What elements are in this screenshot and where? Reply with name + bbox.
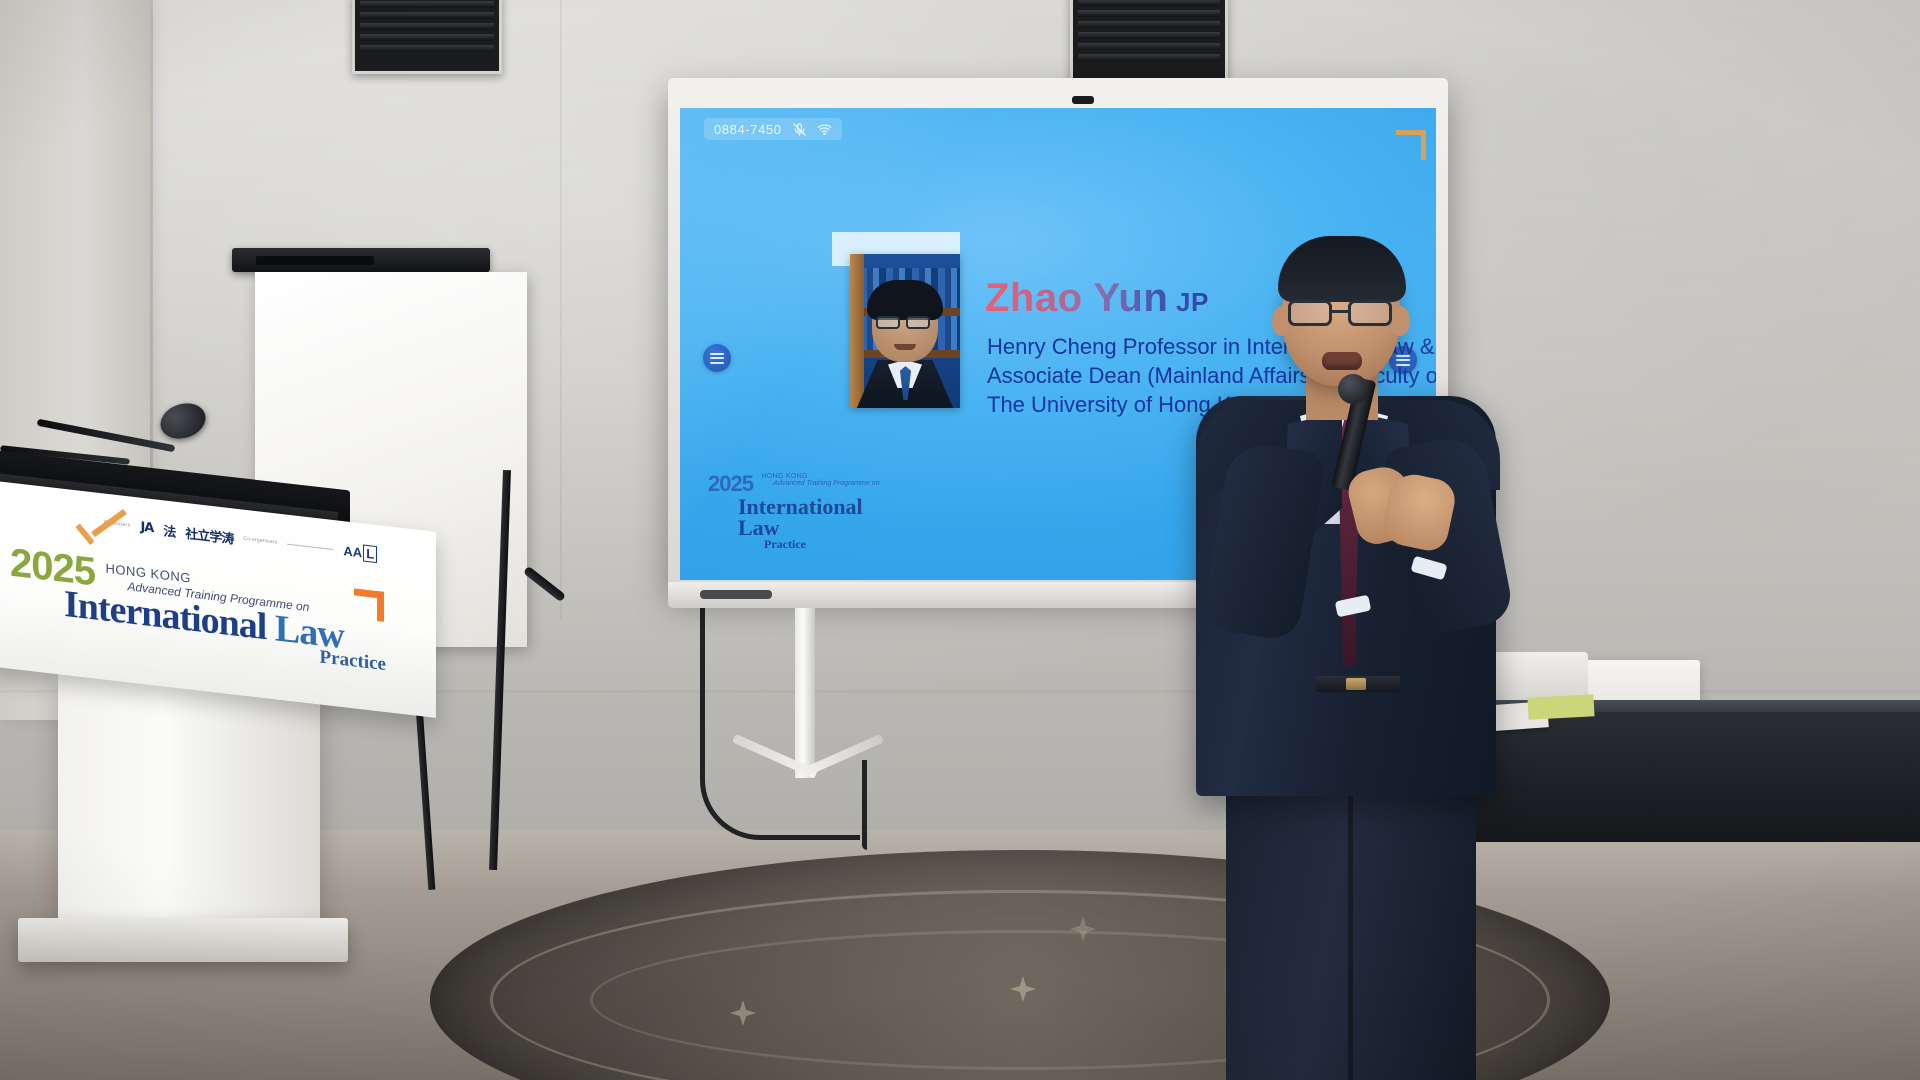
handheld-microphone-head <box>1338 374 1368 404</box>
smartboard-sensor-strip <box>700 590 772 599</box>
podium-base <box>18 918 348 962</box>
presenter-leg-split <box>1348 760 1353 1080</box>
presenter-mouth <box>1322 352 1362 370</box>
slide-speaker-name: Zhao Yun JP <box>985 276 1209 321</box>
presenter-glasses <box>1288 300 1332 326</box>
side-table <box>1444 712 1920 842</box>
wifi-icon <box>817 122 832 137</box>
table-green-item <box>1527 694 1594 719</box>
orange-corner-accent <box>354 588 384 621</box>
presenter-belt-buckle <box>1346 678 1366 690</box>
presenter-ear <box>1390 306 1410 336</box>
slide-logo-law: Law <box>708 517 918 539</box>
logo-hk-legal: 社立学涛 <box>185 522 233 547</box>
orange-corner-accent <box>1396 130 1426 160</box>
left-toolbar-button[interactable] <box>703 344 731 372</box>
smartboard-stand-column <box>795 608 815 778</box>
presenter-glasses <box>1348 300 1392 326</box>
device-code: 0884-7450 <box>714 122 782 137</box>
ceiling-vent-right <box>1070 0 1228 90</box>
logo-fa: 法 <box>163 520 175 540</box>
wall-seam <box>560 0 562 620</box>
status-bar: 0884-7450 <box>704 118 842 140</box>
speaker-portrait-photo <box>850 254 960 408</box>
divider <box>287 543 333 549</box>
menu-list-icon <box>710 350 724 366</box>
co-organiser-label: Co-organisers <box>243 536 277 546</box>
slide-logo-city: HONG KONG <box>761 473 879 480</box>
flip-chart-clip <box>256 256 374 265</box>
slide-programme-logo: 2025 HONG KONG Advanced Training Program… <box>708 471 918 552</box>
power-cable <box>700 580 860 840</box>
scene-root: Organisers JA 法 社立学涛 Co-organisers AAL 2… <box>0 0 1920 1080</box>
webcam-icon <box>1072 96 1094 104</box>
slide-logo-subtitle: Advanced Training Programme on <box>761 480 879 487</box>
ceiling-vent-left <box>352 0 502 74</box>
power-cable <box>862 760 867 850</box>
logo-ila: JA <box>140 519 153 535</box>
podium-body <box>58 672 320 932</box>
banner-year: 2025 <box>10 545 95 591</box>
presenter-glasses-bridge <box>1332 310 1348 313</box>
logo-aal: AAL <box>343 543 377 562</box>
mic-muted-icon <box>792 122 807 137</box>
